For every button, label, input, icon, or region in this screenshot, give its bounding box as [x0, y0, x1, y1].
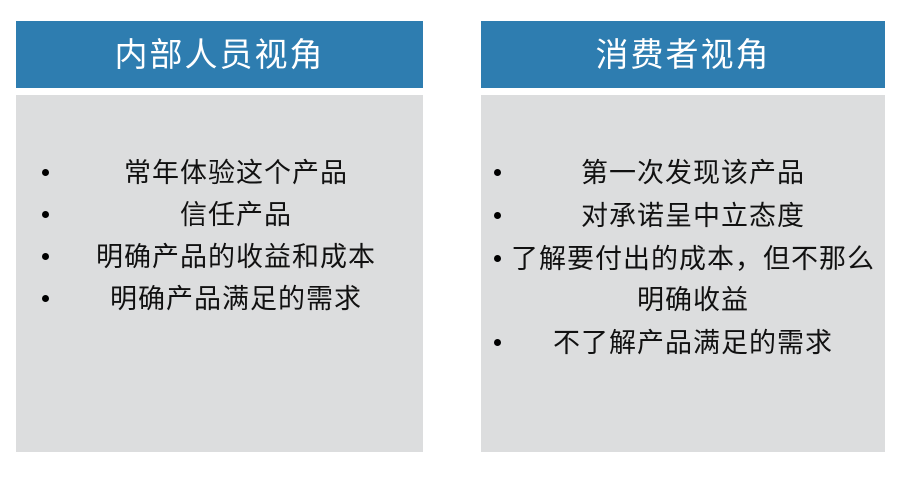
bullet-dot-icon	[42, 295, 49, 302]
panel-body-internal-perspective: 常年体验这个产品 信任产品 明确产品的收益和成本 明确产品满足的需求	[16, 95, 423, 452]
panel-gap-right	[481, 88, 885, 95]
list-item: 信任产品	[16, 195, 423, 235]
bullet-text: 明确产品的收益和成本	[49, 237, 423, 277]
bullet-text: 了解要付出的成本，但不那么明确收益	[501, 239, 885, 321]
bullet-dot-icon	[494, 339, 501, 346]
list-item: 了解要付出的成本，但不那么明确收益	[481, 239, 885, 321]
bullet-text: 明确产品满足的需求	[49, 279, 423, 319]
panel-consumer-perspective: 消费者视角 第一次发现该产品 对承诺呈中立态度 了解要付出的成本，但不那么明确收…	[481, 21, 885, 452]
bullet-dot-icon	[42, 211, 49, 218]
list-item: 不了解产品满足的需求	[481, 323, 885, 364]
panel-gap-left	[16, 88, 423, 95]
bullet-dot-icon	[42, 169, 49, 176]
panel-body-consumer-perspective: 第一次发现该产品 对承诺呈中立态度 了解要付出的成本，但不那么明确收益 不了解产…	[481, 95, 885, 452]
bullet-text: 信任产品	[49, 195, 423, 235]
panel-header-internal-perspective: 内部人员视角	[16, 21, 423, 88]
panel-header-consumer-perspective: 消费者视角	[481, 21, 885, 88]
bullet-dot-icon	[494, 169, 501, 176]
bullet-text: 第一次发现该产品	[501, 153, 885, 194]
panel-internal-perspective: 内部人员视角 常年体验这个产品 信任产品 明确产品的收益和成本 明确产品	[16, 21, 423, 452]
bullet-text: 对承诺呈中立态度	[501, 196, 885, 237]
list-item: 常年体验这个产品	[16, 153, 423, 193]
slide-canvas: 内部人员视角 常年体验这个产品 信任产品 明确产品的收益和成本 明确产品	[0, 0, 899, 500]
bullet-dot-icon	[494, 212, 501, 219]
bullet-list-internal-perspective: 常年体验这个产品 信任产品 明确产品的收益和成本 明确产品满足的需求	[16, 153, 423, 321]
list-item: 对承诺呈中立态度	[481, 196, 885, 237]
list-item: 第一次发现该产品	[481, 153, 885, 194]
bullet-text: 常年体验这个产品	[49, 153, 423, 193]
bullet-list-consumer-perspective: 第一次发现该产品 对承诺呈中立态度 了解要付出的成本，但不那么明确收益 不了解产…	[481, 153, 885, 366]
list-item: 明确产品的收益和成本	[16, 237, 423, 277]
bullet-dot-icon	[494, 255, 501, 262]
list-item: 明确产品满足的需求	[16, 279, 423, 319]
bullet-dot-icon	[42, 253, 49, 260]
bullet-text: 不了解产品满足的需求	[501, 323, 885, 364]
